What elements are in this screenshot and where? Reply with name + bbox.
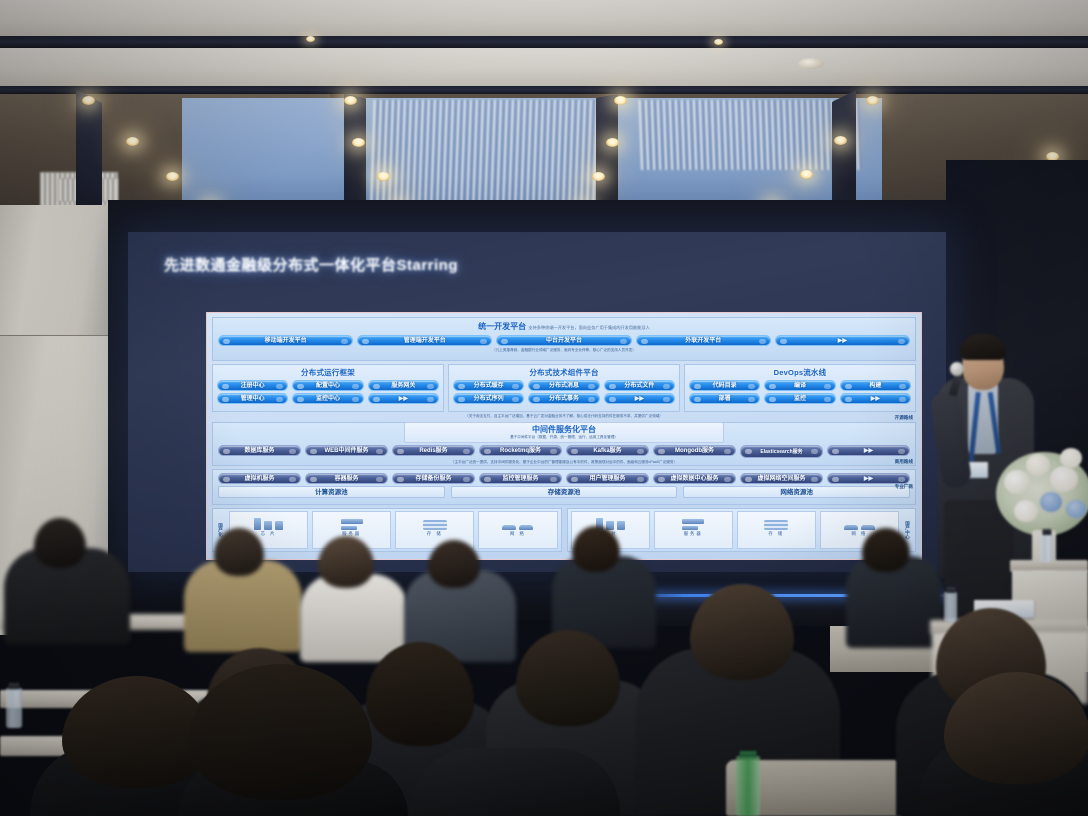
chip-midplatform-dev-platform[interactable]: 中台开发平台 xyxy=(496,335,631,346)
chip-middleware-more[interactable]: ▶▶ xyxy=(827,445,910,456)
ceiling-spot-2 xyxy=(126,137,139,146)
server-unit-icon xyxy=(341,526,357,530)
ceiling-dark-reveal-2 xyxy=(0,86,1088,94)
chip-dev-platform-more[interactable]: ▶▶ xyxy=(775,335,910,346)
router-icon-right xyxy=(861,525,875,530)
server-rack-icon xyxy=(341,519,363,524)
server-unit-icon-right xyxy=(682,526,698,530)
pool-compute: 计算资源池 xyxy=(218,486,445,498)
flower-white-5 xyxy=(1060,448,1082,468)
middleware-chip-row[interactable]: 数据库服务 WEB中间件服务 Redis服务 Rocketmq服务 Kafka服… xyxy=(218,445,910,458)
hardware-cell-storage-right-label: 存 储 xyxy=(768,531,784,537)
attendee-back-4-head xyxy=(428,540,480,588)
bottle-cap-front-2 xyxy=(740,751,757,757)
microphone-head xyxy=(950,362,964,376)
attendee-back-1-head xyxy=(34,518,86,568)
middleware-title-note: 基于中间件平台（数据、开源、统一管理、运行、运用工具化管理） xyxy=(405,435,723,440)
hardware-cell-server-right: 服务器 xyxy=(654,511,733,549)
hardware-cell-network-left: 网 络 xyxy=(478,511,557,549)
dev-platform-title: 统一开发平台 支持多种终端一开发平台，面向业务广用于集成的开发用能能及人 xyxy=(218,321,910,333)
conference-photo-scene: 先进数通金融级分布式一体化平台Starring 统一开发平台 支持多种终端一开发… xyxy=(0,0,1088,816)
diagram-row-runtime-split: 分布式运行框架 注册中心 配置中心 服务网关 管理中心 监控中心 ▶▶ 分布式技… xyxy=(212,364,916,412)
chip-kafka-service[interactable]: Kafka服务 xyxy=(566,445,649,456)
chip-rocketmq-service[interactable]: Rocketmq服务 xyxy=(479,445,562,456)
architecture-diagram: 统一开发平台 支持多种终端一开发平台，面向业务广用于集成的开发用能能及人 移动端… xyxy=(206,312,922,560)
storage-icon-group-left xyxy=(423,514,447,530)
bottle-front-2 xyxy=(736,756,760,816)
middleware-title-overlay: 中间件服务化平台 基于中间件平台（数据、开源、统一管理、运行、运用工具化管理） xyxy=(404,422,724,443)
chip-distributed-message[interactable]: 分布式消息 xyxy=(528,380,599,391)
devops-chip-row-1[interactable]: 代码目录 编译 构建 xyxy=(689,380,911,391)
middleware-tag-commercial: 商用路线 xyxy=(895,459,913,465)
chip-monitor-management-service[interactable]: 监控管理服务 xyxy=(479,473,562,484)
cloud-tag-vendor: 专业厂商 xyxy=(895,484,913,490)
chip-virtual-network-service[interactable]: 虚拟网络空间服务 xyxy=(740,473,823,484)
group-devops-pipeline: DevOps流水线 代码目录 编译 构建 部署 监控 ▶▶ xyxy=(684,364,916,412)
components-chip-row-1[interactable]: 分布式缓存 分布式消息 分布式文件 xyxy=(453,380,675,391)
bottle-cap-mid-1 xyxy=(8,683,19,689)
ceiling-slat-array-left xyxy=(370,100,604,210)
server-rack-icon-right xyxy=(682,519,704,524)
runtime-chip-row-2[interactable]: 管理中心 监控中心 ▶▶ xyxy=(217,393,439,404)
chip-redis-service[interactable]: Redis服务 xyxy=(392,445,475,456)
chip-virtual-datacenter-service[interactable]: 虚拟数据中心服务 xyxy=(653,473,736,484)
chip-vm-service[interactable]: 虚拟机服务 xyxy=(218,473,301,484)
bottle-cap-back-right xyxy=(946,587,955,593)
storage-icon-group-right xyxy=(764,514,788,530)
ceiling-spot-3 xyxy=(166,172,179,181)
chip-distributed-file[interactable]: 分布式文件 xyxy=(604,380,675,391)
diagram-row-cloud: 虚拟机服务 容器服务 存储备份服务 监控管理服务 用户管理服务 虚拟数据中心服务… xyxy=(212,469,916,505)
network-icon-group-right xyxy=(844,514,875,530)
router-icon xyxy=(519,525,533,530)
attendee-back-5-head xyxy=(572,526,620,572)
dev-platform-footnote: （凡上类推荐到、金融银行业领域广泛服务、面向专业伙伴等、核心广泛的支持人员开发） xyxy=(218,348,910,353)
dev-platform-title-note: 支持多种终端一开发平台，面向业务广用于集成的开发用能能及人 xyxy=(528,325,649,330)
components-chip-row-2[interactable]: 分布式序列 分布式事务 ▶▶ xyxy=(453,393,675,404)
ceiling-spot-10 xyxy=(606,138,619,147)
ceiling-slat-array-right xyxy=(639,100,861,170)
hardware-cell-server-right-label: 服务器 xyxy=(684,531,703,537)
flower-blue-1 xyxy=(1040,492,1062,512)
switch-icon xyxy=(502,525,516,530)
ceiling-spot-1 xyxy=(82,96,95,105)
slide-title: 先进数通金融级分布式一体化平台Starring xyxy=(164,254,458,275)
chip-web-middleware-service[interactable]: WEB中间件服务 xyxy=(305,445,388,456)
chip-mobile-dev-platform[interactable]: 移动端开发平台 xyxy=(218,335,353,346)
ceiling-dome-fixture xyxy=(798,58,824,69)
resource-pool-row: 计算资源池 存储资源池 网络资源池 xyxy=(218,486,910,498)
diagram-row-hardware: 国产化 芯 片 服务器 xyxy=(212,508,916,552)
chip-database-service[interactable]: 数据库服务 xyxy=(218,445,301,456)
chip-monitor[interactable]: 监控 xyxy=(764,393,835,404)
chip-admin-dev-platform[interactable]: 管理端开发平台 xyxy=(357,335,492,346)
chip-config-center[interactable]: 配置中心 xyxy=(292,380,363,391)
ceiling-spot-strip-b xyxy=(714,39,723,45)
runtime-footnote: （关于用法支付、自主平台广泛增加、基于云广发对金融业务不了解、核心成无代码支持的… xyxy=(212,414,916,419)
middleware-footnote: （主平台广泛统一提供、支持中间件服务化、基于企业中台的广管理能服及公有中的件、政… xyxy=(218,460,910,465)
storage-array-icon-right xyxy=(764,520,788,530)
flower-blue-2 xyxy=(1066,500,1086,518)
group-distributed-runtime-title: 分布式运行框架 xyxy=(217,367,439,378)
chip-runtime-more[interactable]: ▶▶ xyxy=(368,393,439,404)
chip-service-gateway[interactable]: 服务网关 xyxy=(368,380,439,391)
network-icon-group-left xyxy=(502,514,533,530)
chip-registry-center[interactable]: 注册中心 xyxy=(217,380,288,391)
speaker-hair xyxy=(960,334,1006,360)
switch-icon-right xyxy=(844,525,858,530)
chip-user-management-service[interactable]: 用户管理服务 xyxy=(566,473,649,484)
server-icon-group-left xyxy=(341,514,363,530)
group-distributed-runtime: 分布式运行框架 注册中心 配置中心 服务网关 管理中心 监控中心 ▶▶ xyxy=(212,364,444,412)
bottle-back-right xyxy=(944,592,957,622)
board-chip-icon xyxy=(275,521,283,530)
ceiling-spot-11 xyxy=(592,172,605,181)
chip-distributed-sequence[interactable]: 分布式序列 xyxy=(453,393,524,404)
hardware-cell-storage-right: 存 储 xyxy=(737,511,816,549)
cloud-chip-row[interactable]: 虚拟机服务 容器服务 存储备份服务 监控管理服务 用户管理服务 虚拟数据中心服务… xyxy=(218,473,910,484)
chip-storage-backup-service[interactable]: 存储备份服务 xyxy=(392,473,475,484)
pool-storage: 存储资源池 xyxy=(451,486,678,498)
stage-water-bottle xyxy=(1040,534,1053,562)
hardware-cell-chip-left-label: 芯 片 xyxy=(261,531,277,537)
ceiling-mid-slab xyxy=(0,48,1088,86)
storage-array-icon xyxy=(423,520,447,530)
chip-build[interactable]: 构建 xyxy=(840,380,911,391)
hardware-group-left: 国产化 芯 片 服务器 xyxy=(212,508,562,552)
chip-external-dev-platform[interactable]: 外联开发平台 xyxy=(636,335,771,346)
attendee-back-2-head xyxy=(214,528,264,576)
runtime-chip-row-1[interactable]: 注册中心 配置中心 服务网关 xyxy=(217,380,439,391)
server-icon-group-right xyxy=(682,514,704,530)
chip-management-center[interactable]: 管理中心 xyxy=(217,393,288,404)
attendee-back-3-head xyxy=(318,536,374,588)
dev-platform-chip-row[interactable]: 移动端开发平台 管理端开发平台 中台开发平台 外联开发平台 ▶▶ xyxy=(218,335,910,346)
ceiling-spot-15 xyxy=(800,170,813,179)
chip-deploy[interactable]: 部署 xyxy=(689,393,760,404)
ceiling-spot-13 xyxy=(866,96,879,105)
chip-container-service[interactable]: 容器服务 xyxy=(305,473,388,484)
flower-white-2 xyxy=(1026,454,1050,476)
flower-white-1 xyxy=(1004,470,1030,494)
chip-mongodb-service[interactable]: Mongodb服务 xyxy=(653,445,736,456)
chip-icon-group-left xyxy=(254,514,283,530)
chip-cloud-more[interactable]: ▶▶ xyxy=(827,473,910,484)
ceiling-spot-7 xyxy=(377,172,390,181)
cpu-chip-icon xyxy=(254,518,261,530)
ceiling-spot-5 xyxy=(344,96,357,105)
group-distributed-components: 分布式技术组件平台 分布式缓存 分布式消息 分布式文件 分布式序列 分布式事务 … xyxy=(448,364,680,412)
hardware-cell-network-left-label: 网 络 xyxy=(510,531,526,537)
middleware-tag-opensource: 开源路线 xyxy=(895,415,913,421)
bottle-cap xyxy=(1042,529,1051,535)
hardware-cell-network-right-label: 网 络 xyxy=(852,531,868,537)
ceiling-spot-9 xyxy=(614,96,627,105)
ceiling-dark-reveal-1 xyxy=(0,36,1088,48)
flower-white-4 xyxy=(1014,500,1038,522)
diagram-row-middleware: 中间件服务化平台 基于中间件平台（数据、开源、统一管理、运行、运用工具化管理） … xyxy=(212,422,916,466)
dev-platform-title-text: 统一开发平台 xyxy=(478,322,526,331)
middleware-title: 中间件服务化平台 xyxy=(405,424,723,435)
group-devops-pipeline-title: DevOps流水线 xyxy=(689,367,911,378)
ceiling-upper-slab xyxy=(0,0,1088,36)
chip-code-repository[interactable]: 代码目录 xyxy=(689,380,760,391)
memory-chip-icon xyxy=(264,521,272,530)
group-distributed-components-title: 分布式技术组件平台 xyxy=(453,367,675,378)
chip-monitor-center[interactable]: 监控中心 xyxy=(292,393,363,404)
pool-network: 网络资源池 xyxy=(683,486,910,498)
flower-white-3 xyxy=(1050,466,1078,492)
hardware-cell-storage-left-label: 存 储 xyxy=(427,531,443,537)
chip-components-more[interactable]: ▶▶ xyxy=(604,393,675,404)
chip-devops-more[interactable]: ▶▶ xyxy=(840,393,911,404)
bottle-mid-1 xyxy=(6,688,22,728)
ceiling-spot-6 xyxy=(352,138,365,147)
diagram-row-dev-platform: 统一开发平台 支持多种终端一开发平台，面向业务广用于集成的开发用能能及人 移动端… xyxy=(212,317,916,361)
chip-compile[interactable]: 编译 xyxy=(764,380,835,391)
chip-elasticsearch-service[interactable]: Elasticsearch服务 xyxy=(740,445,823,458)
chip-distributed-transaction[interactable]: 分布式事务 xyxy=(528,393,599,404)
attendee-front-3-torso xyxy=(410,748,620,816)
ceiling-spot-strip-a xyxy=(306,36,315,42)
chip-distributed-cache[interactable]: 分布式缓存 xyxy=(453,380,524,391)
ceiling-spot-14 xyxy=(834,136,847,145)
devops-chip-row-2[interactable]: 部署 监控 ▶▶ xyxy=(689,393,911,404)
board-chip-icon-right xyxy=(617,521,625,530)
attendee-back-6-head xyxy=(862,528,910,572)
wall-panel-left xyxy=(0,205,110,335)
